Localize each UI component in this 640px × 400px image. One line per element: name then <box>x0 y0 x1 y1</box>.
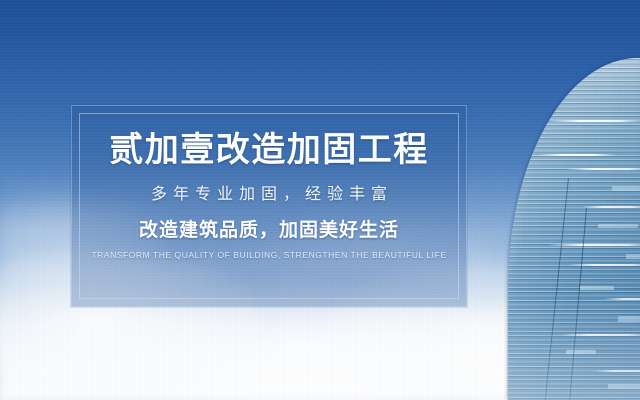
skyscraper-region <box>480 0 640 400</box>
subtitle-text: 多年专业加固，经验丰富 <box>145 187 393 203</box>
tagline-text: 改造建筑品质，加固美好生活 <box>139 221 399 240</box>
page-title: 贰加壹改造加固工程 <box>109 133 429 167</box>
curved-glass-skyscraper <box>508 58 640 400</box>
panel-content: 贰加壹改造加固工程 多年专业加固，经验丰富 改造建筑品质，加固美好生活 TRAN… <box>72 106 466 306</box>
text-panel: 贰加壹改造加固工程 多年专业加固，经验丰富 改造建筑品质，加固美好生活 TRAN… <box>71 105 467 307</box>
hero-banner: 贰加壹改造加固工程 多年专业加固，经验丰富 改造建筑品质，加固美好生活 TRAN… <box>0 0 640 400</box>
building-base-fade <box>508 290 640 400</box>
english-tagline-text: TRANSFORM THE QUALITY OF BUILDING, STREN… <box>91 251 446 260</box>
